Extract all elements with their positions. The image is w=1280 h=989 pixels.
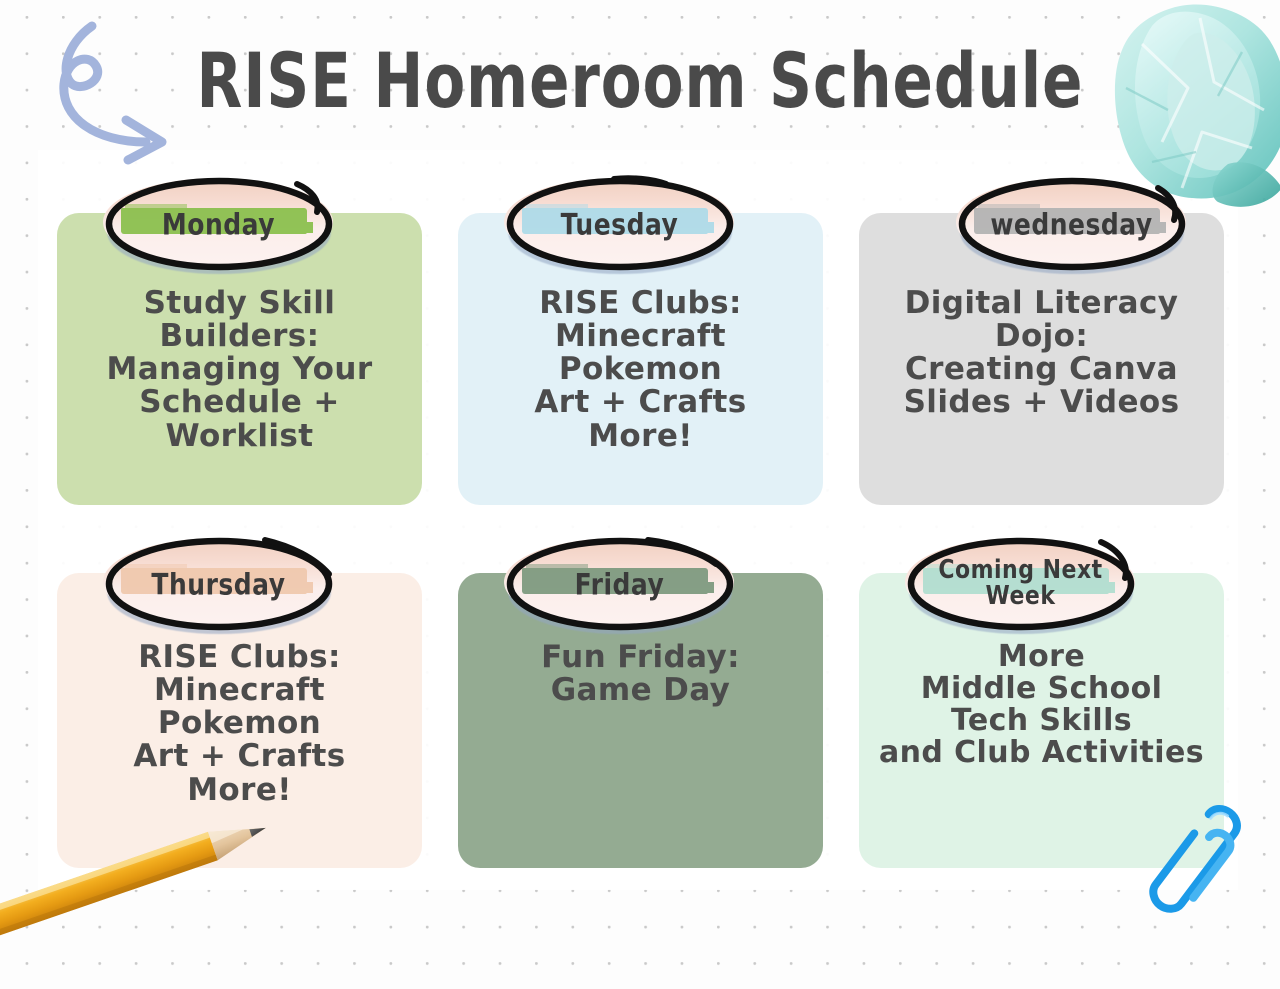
card-body-text: Fun Friday: Game Day: [458, 641, 823, 707]
schedule-card-wednesday[interactable]: wednesday Digital Literacy Dojo: Creatin…: [859, 213, 1224, 505]
curly-arrow-icon: [30, 8, 230, 168]
day-badge-monday: Monday: [101, 178, 337, 270]
day-badge-coming-next-week: Coming Next Week: [903, 538, 1139, 630]
day-badge-label: Monday: [101, 170, 337, 279]
pencil-icon: [0, 780, 316, 940]
day-badge-wednesday: wednesday: [954, 178, 1190, 270]
schedule-card-friday[interactable]: Friday Fun Friday: Game Day: [458, 573, 823, 868]
day-badge-label: wednesday: [954, 170, 1190, 279]
card-body-text: More Middle School Tech Skills and Club …: [859, 641, 1224, 769]
day-badge-label: Thursday: [101, 530, 337, 639]
slide-canvas: RISE Homeroom Schedule: [0, 0, 1280, 989]
day-badge-label: Coming Next Week: [903, 530, 1139, 639]
day-badge-label: Friday: [502, 530, 738, 639]
day-badge-tuesday: Tuesday: [502, 178, 738, 270]
day-badge-label: Tuesday: [502, 170, 738, 279]
card-body-text: Study Skill Builders: Managing Your Sche…: [57, 287, 422, 453]
schedule-card-monday[interactable]: Monday Study Skill Builders: Managing Yo…: [57, 213, 422, 505]
day-badge-friday: Friday: [502, 538, 738, 630]
card-body-text: Digital Literacy Dojo: Creating Canva Sl…: [859, 287, 1224, 420]
schedule-card-tuesday[interactable]: Tuesday RISE Clubs: Minecraft Pokemon Ar…: [458, 213, 823, 505]
day-badge-thursday: Thursday: [101, 538, 337, 630]
schedule-grid: Monday Study Skill Builders: Managing Yo…: [57, 213, 1224, 868]
paperclip-icon: [1138, 798, 1248, 923]
card-body-text: RISE Clubs: Minecraft Pokemon Art + Craf…: [458, 287, 823, 453]
